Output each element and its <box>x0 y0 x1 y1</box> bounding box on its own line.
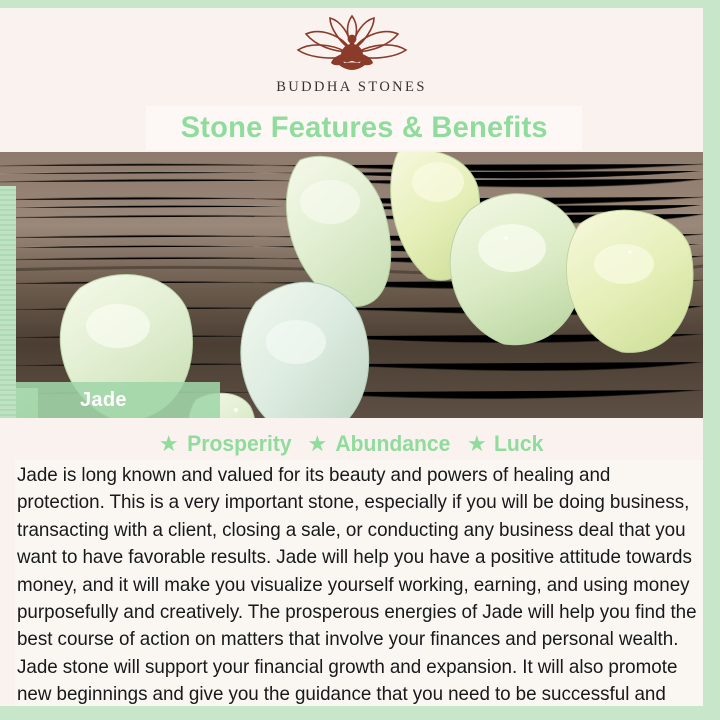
page-title: Stone Features & Benefits <box>180 111 547 145</box>
title-banner: Stone Features & Benefits <box>146 106 582 150</box>
star-icon: ★ <box>467 433 487 455</box>
photo-left-accent-strip <box>0 186 16 418</box>
benefit-label: Luck <box>494 431 543 457</box>
benefit-abundance: ★ Abundance <box>307 431 453 457</box>
benefit-label: Abundance <box>336 431 451 457</box>
star-icon: ★ <box>159 433 179 455</box>
brand-name: BUDDHA STONES <box>276 79 427 96</box>
bottom-edge-strip <box>0 706 720 720</box>
stone-info-card: BUDDHA STONES Stone Features & Benefits <box>0 0 720 720</box>
brand-logo: BUDDHA STONES <box>0 8 703 108</box>
top-edge-strip <box>0 0 720 8</box>
right-edge-strip <box>703 0 720 720</box>
benefit-label: Prosperity <box>187 431 291 457</box>
benefit-luck: ★ Luck <box>467 431 544 457</box>
stone-name: Jade <box>80 389 127 412</box>
jade-tumbled-stones-photo <box>0 152 703 418</box>
star-icon: ★ <box>307 433 327 455</box>
stone-name-band: Jade <box>16 382 220 418</box>
benefit-prosperity: ★ Prosperity <box>159 431 294 457</box>
lotus-meditation-icon <box>286 12 418 78</box>
benefits-row: ★ Prosperity ★ Abundance ★ Luck <box>0 428 703 460</box>
description-text: Jade is long known and valued for its be… <box>15 460 709 720</box>
description-block: Jade is long known and valued for its be… <box>15 460 720 706</box>
